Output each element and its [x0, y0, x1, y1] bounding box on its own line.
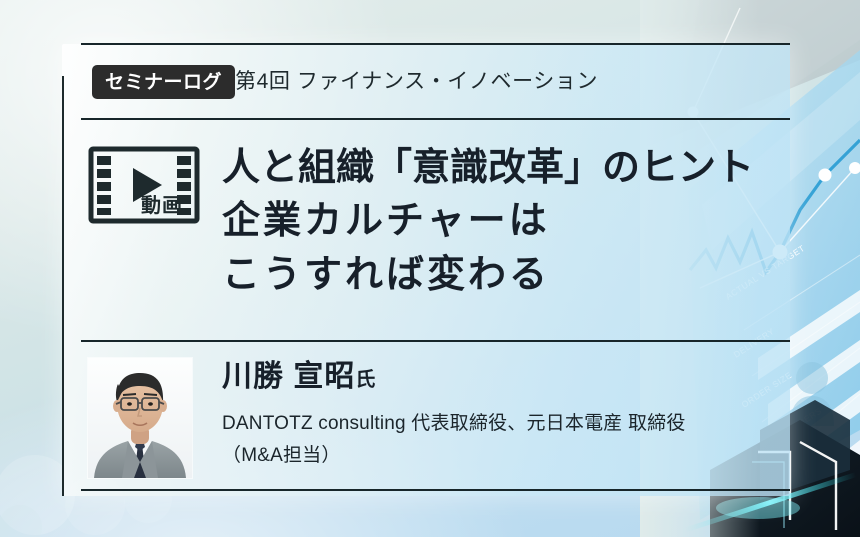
- author-role-line-1: DANTOTZ consulting 代表取締役、元日本電産 取締役: [222, 413, 686, 434]
- author-portrait: [88, 358, 192, 478]
- author-name: 川勝 宣昭氏: [222, 358, 375, 399]
- title-line-2: 企業カルチャーは: [222, 194, 782, 248]
- category-badge-label: セミナーログ: [105, 73, 222, 92]
- divider-author: [81, 340, 790, 342]
- divider-bottom: [81, 489, 790, 491]
- seminar-log-banner: ACTUAL VS TARGET DELIVERY ORDER SIZE NEW…: [0, 0, 860, 537]
- media-type-label: 動画: [141, 196, 183, 216]
- author-role-line-2: （M&A担当）: [222, 440, 782, 472]
- author-name-text: 川勝 宣昭: [222, 360, 355, 393]
- divider-header: [81, 118, 790, 120]
- title-line-3: こうすれば変わる: [222, 248, 782, 302]
- author-role: DANTOTZ consulting 代表取締役、元日本電産 取締役 （M&A担…: [222, 408, 782, 472]
- title-line-1: 人と組織「意識改革」のヒント: [222, 142, 782, 194]
- avatar: [88, 358, 192, 478]
- category-badge[interactable]: セミナーログ: [92, 65, 235, 99]
- series-title: 第4回 ファイナンス・イノベーション: [235, 66, 598, 98]
- divider-top: [81, 43, 790, 45]
- card-left-accent-bar: [62, 76, 64, 496]
- author-name-suffix: 氏: [355, 369, 375, 391]
- page-title: 人と組織「意識改革」のヒント 企業カルチャーは こうすれば変わる: [222, 142, 782, 302]
